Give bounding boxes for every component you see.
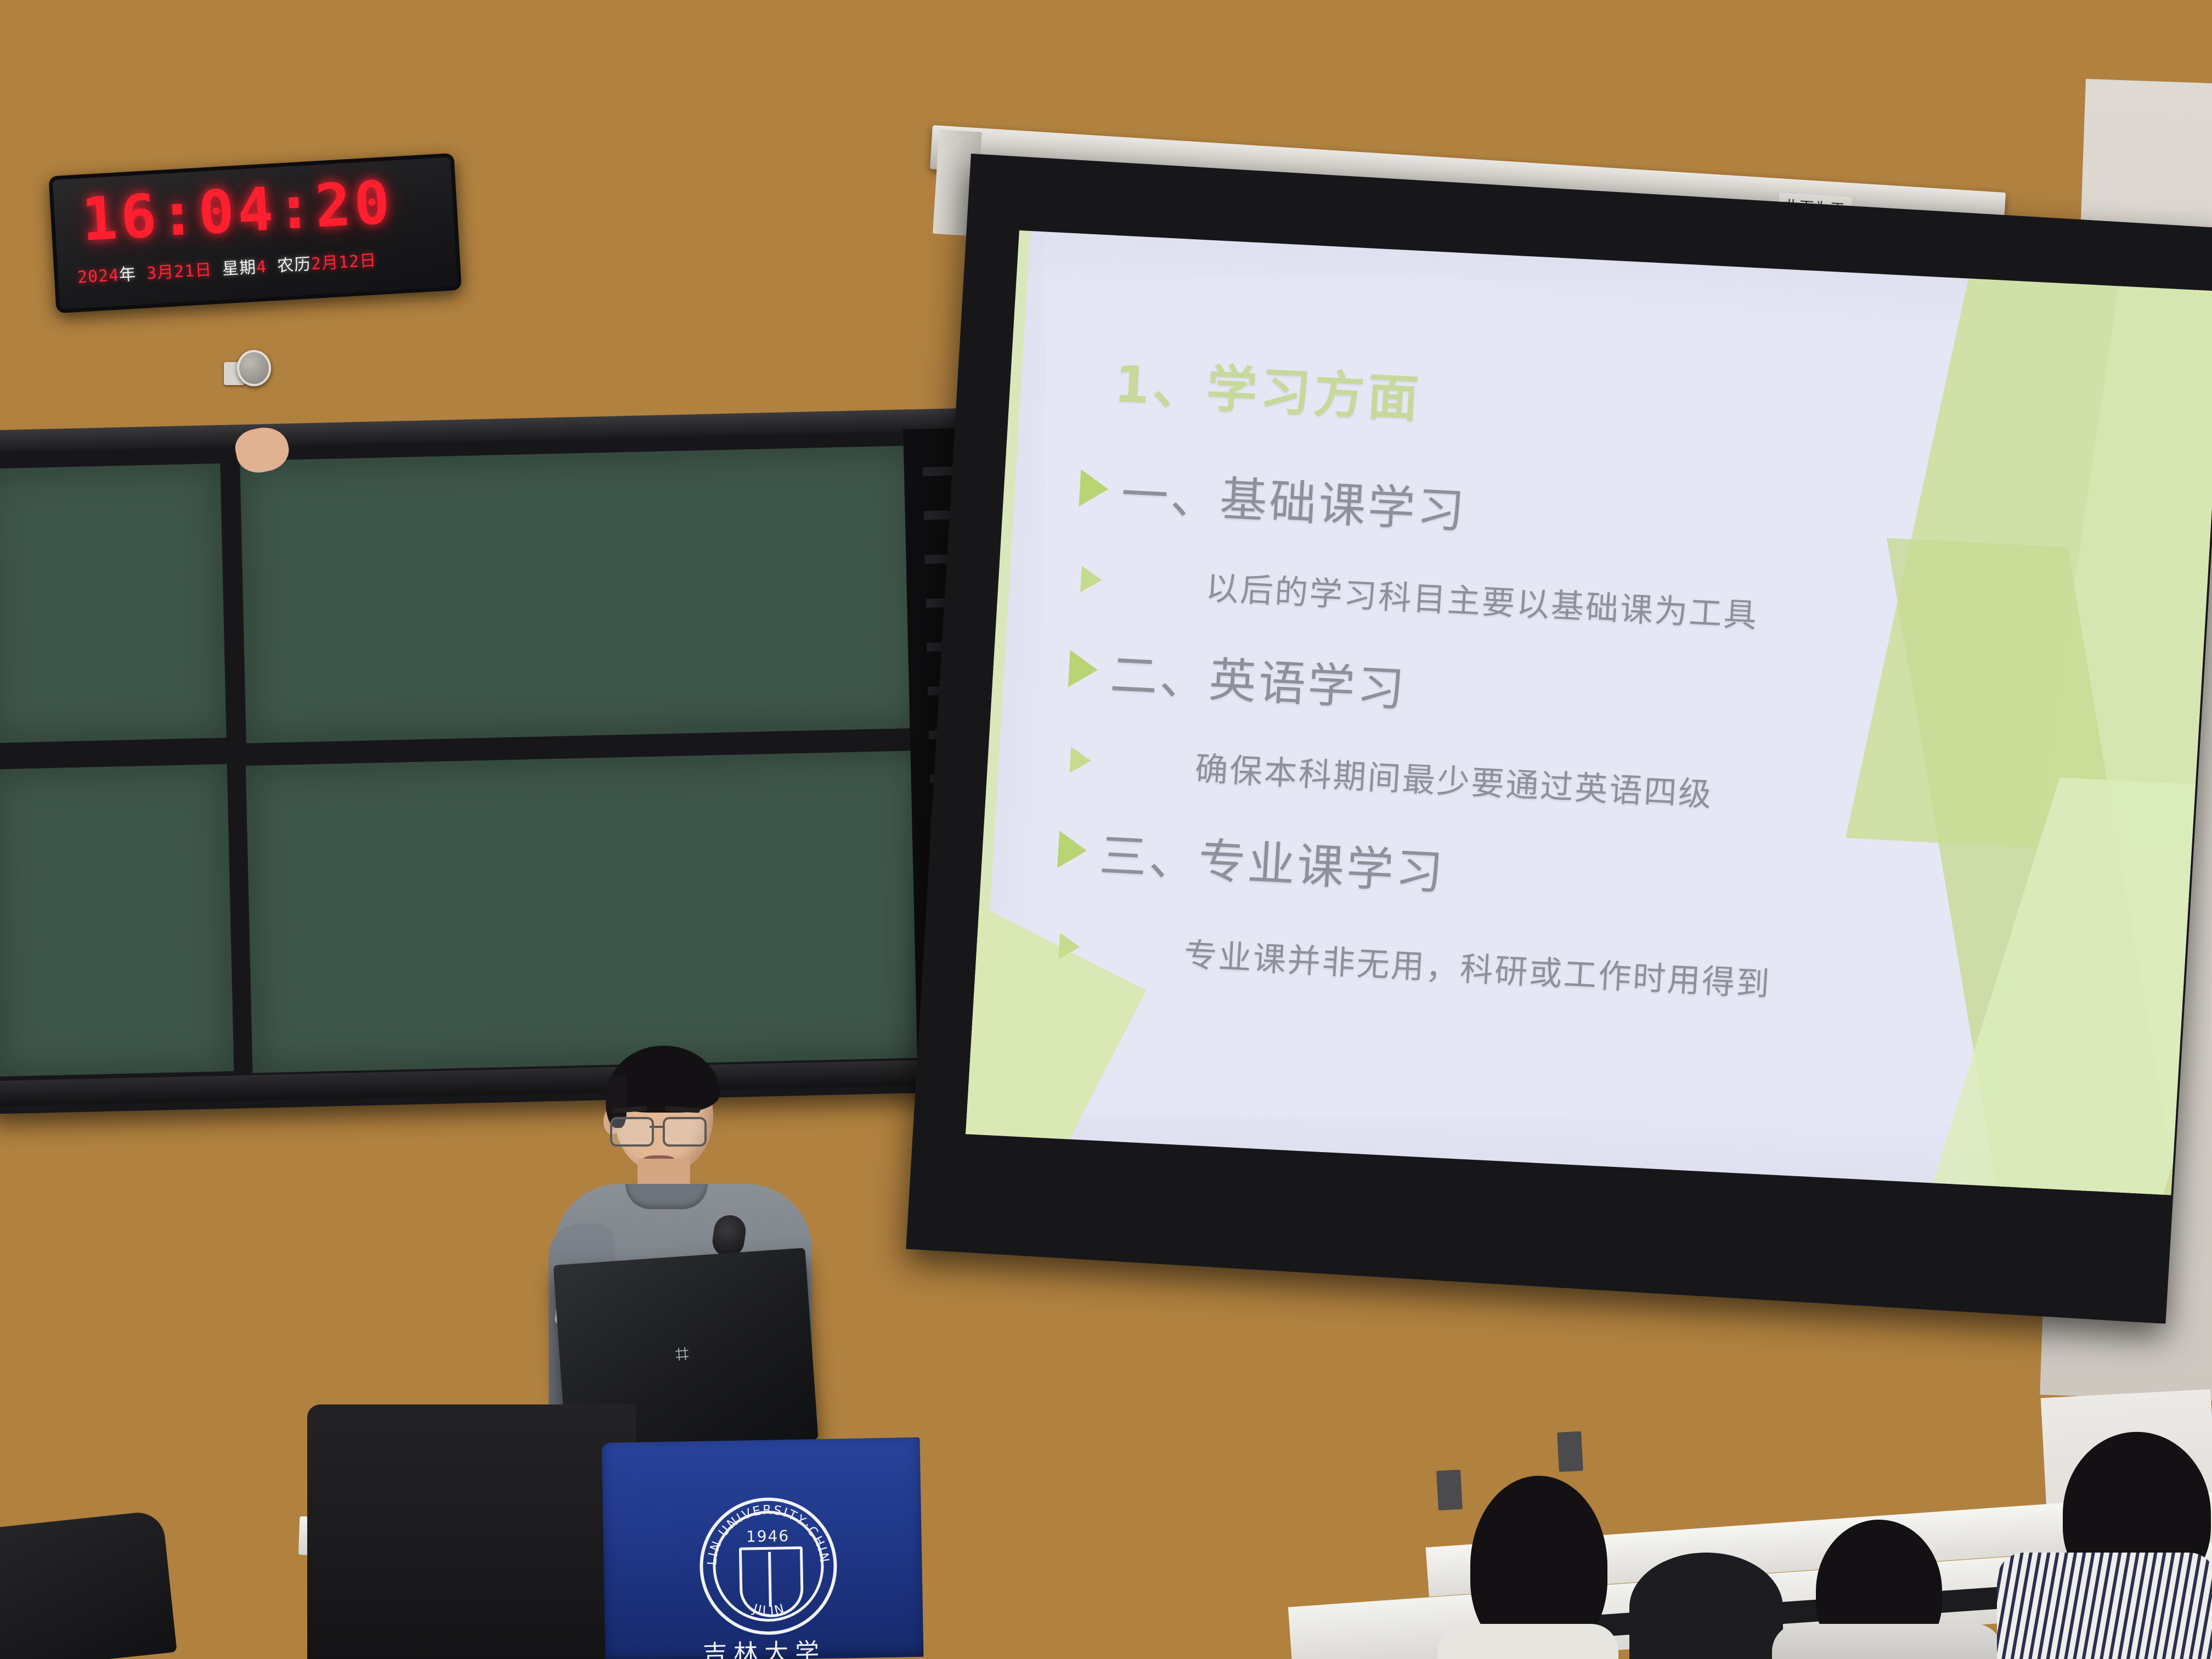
monitor-brand-logo-icon: ⌗ xyxy=(665,1338,698,1371)
clock-year: 2024 xyxy=(77,266,120,287)
slide-bullet-row: 二、英语学习 xyxy=(1067,634,1409,720)
triangle-bullet-icon xyxy=(1070,746,1092,774)
eyeglasses-icon xyxy=(663,1117,707,1147)
triangle-bullet-icon xyxy=(1080,566,1103,593)
svg-text:JILIN: JILIN xyxy=(750,1601,787,1619)
eyeglasses-bridge xyxy=(650,1126,664,1128)
audience-torso xyxy=(1772,1624,2002,1659)
slide-bullet-row: 专业课并非无用，科研或工作时用得到 xyxy=(1058,922,1773,1006)
chair xyxy=(0,1510,177,1659)
lecture-hall-photo: 16:04:20 2024年 3月21日 星期4 农历2月12日 此面为正 xyxy=(0,0,2212,1659)
slide-bullet-text: 以后的学习科目主要以基础课为工具 xyxy=(1205,561,1760,637)
slide-bullet-row: 一、基础课学习 xyxy=(1078,453,1469,541)
blackboard-panel xyxy=(0,464,227,743)
triangle-bullet-icon xyxy=(1057,831,1088,870)
triangle-bullet-icon xyxy=(1068,650,1099,689)
clock-month-day: 3月21日 xyxy=(146,261,212,284)
svg-text:JILIN UNIVERSITY·CHINA: JILIN UNIVERSITY·CHINA xyxy=(702,1500,831,1567)
blackboard-panel xyxy=(246,751,928,1073)
wall-outlet-icon xyxy=(1557,1431,1583,1472)
slide-bullet-text: 专业课并非无用，科研或工作时用得到 xyxy=(1183,928,1773,1006)
crest-chinese-name: 吉林大学 xyxy=(605,1630,924,1659)
clock-weekday-label: 星期 xyxy=(222,258,257,279)
audience-torso xyxy=(1437,1624,1618,1659)
wall-outlet-icon xyxy=(1436,1470,1463,1510)
clock-lunar-label: 农历 xyxy=(276,255,312,276)
blackboard-panel xyxy=(0,764,234,1077)
triangle-bullet-icon xyxy=(1058,933,1081,960)
clock-year-unit: 年 xyxy=(119,265,137,285)
audience-torso xyxy=(1997,1553,2212,1659)
slide-title: 1、学习方面 xyxy=(1113,343,1424,431)
podium-front-panel: 1946 JILIN UNIVERSITY·CHINA JILIN 吉林大学 xyxy=(602,1437,924,1659)
triangle-bullet-icon xyxy=(1079,469,1109,508)
audience-head xyxy=(1629,1553,1783,1659)
slide-bullet-text: 二、英语学习 xyxy=(1109,636,1409,720)
presentation-slide: 1、学习方面 一、基础课学习 以后的学习科目主要以基础课为工具 二、英语学习 确… xyxy=(966,230,2212,1195)
slide-bullet-row: 确保本科期间最少要通过英语四级 xyxy=(1069,736,1714,816)
university-crest-icon: 1946 JILIN UNIVERSITY·CHINA JILIN xyxy=(698,1497,838,1636)
clock-weekday-value: 4 xyxy=(256,257,267,277)
blackboard xyxy=(0,422,995,1114)
eyeglasses-icon xyxy=(610,1117,654,1147)
blackboard-panel xyxy=(240,445,921,743)
slide-bullet-text: 三、专业课学习 xyxy=(1098,817,1447,903)
slide-bullet-text: 确保本科期间最少要通过英语四级 xyxy=(1194,742,1714,816)
led-wall-clock: 16:04:20 2024年 3月21日 星期4 农历2月12日 xyxy=(48,153,461,313)
presenter-collar xyxy=(625,1184,708,1209)
slide-bullet-text: 一、基础课学习 xyxy=(1120,455,1469,541)
slide-bullet-row: 以后的学习科目主要以基础课为工具 xyxy=(1080,555,1760,637)
clock-time: 16:04:20 xyxy=(80,166,460,253)
slide-bullet-row: 三、专业课学习 xyxy=(1057,815,1448,902)
crest-arc-text: JILIN UNIVERSITY·CHINA JILIN xyxy=(702,1500,834,1633)
podium-body xyxy=(307,1404,636,1659)
clock-lunar-date: 2月12日 xyxy=(311,251,377,274)
